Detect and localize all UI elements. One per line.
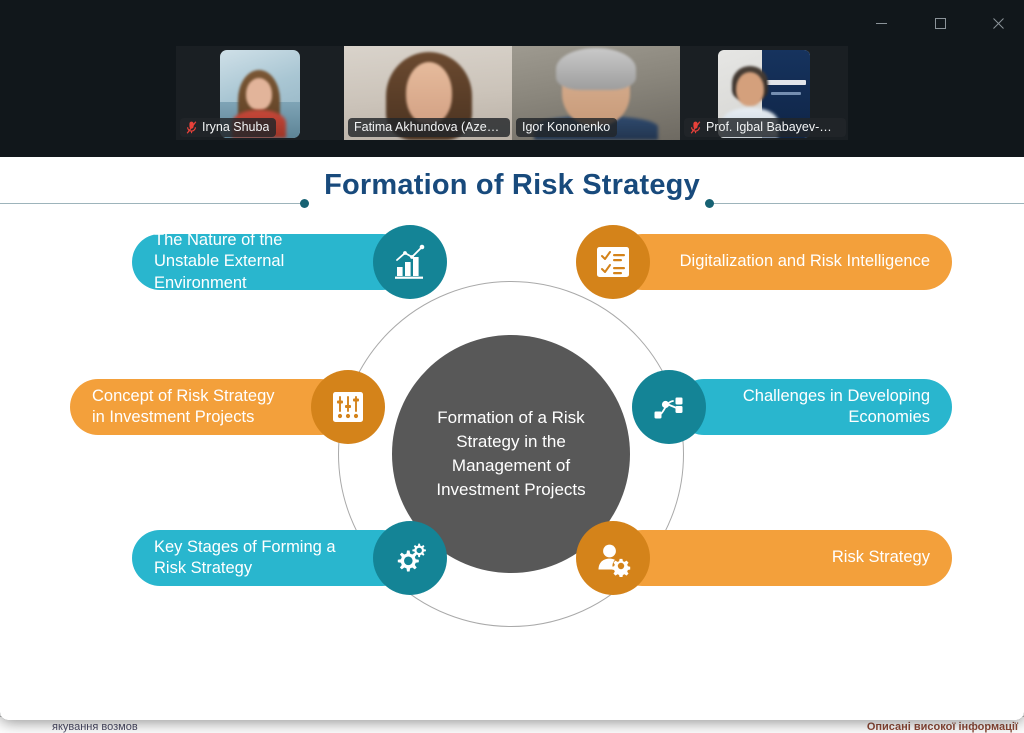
slide-title: Formation of Risk Strategy	[0, 169, 1024, 202]
participant-name-label: Igor Kononenko	[522, 120, 610, 134]
microphone-muted-icon	[186, 121, 197, 134]
diagram-node-1-label: The Nature of the Unstable External Envi…	[132, 230, 410, 293]
network-nodes-icon	[632, 370, 706, 444]
maximize-icon	[935, 18, 946, 29]
participant-name-chip-4: Prof. Igbal Babayev-Az…	[684, 118, 846, 137]
participant-filmstrip: Iryna Shuba Fatima Akhundova (Azerb… Igo…	[0, 46, 1024, 157]
participant-name-chip-3: Igor Kononenko	[516, 118, 617, 137]
bar-chart-growth-icon	[373, 225, 447, 299]
diagram-node-3-label: Concept of Risk Strategy in Investment P…	[70, 386, 348, 428]
diagram-node-5-label: Key Stages of Forming a Risk Strategy	[132, 537, 410, 579]
risk-strategy-diagram: Formation of a Risk Strategy in the Mana…	[0, 213, 1024, 720]
diagram-node-3[interactable]: Concept of Risk Strategy in Investment P…	[70, 379, 348, 435]
title-rule-left	[0, 203, 302, 204]
gears-icon	[373, 521, 447, 595]
minimize-icon	[876, 18, 887, 29]
participant-tile-4[interactable]: Prof. Igbal Babayev-Az…	[680, 46, 848, 140]
backdrop-text-right: Описані високої інформації	[867, 721, 1018, 733]
microphone-muted-icon	[690, 121, 701, 134]
diagram-node-2-label: Digitalization and Risk Intelligence	[620, 251, 952, 272]
diagram-node-1[interactable]: The Nature of the Unstable External Envi…	[132, 234, 410, 290]
minimize-button[interactable]	[858, 0, 904, 46]
participant-name-label: Iryna Shuba	[202, 120, 269, 134]
window-title-bar	[0, 0, 1024, 46]
meeting-window: Iryna Shuba Fatima Akhundova (Azerb… Igo…	[0, 0, 1024, 720]
participant-name-chip-1: Iryna Shuba	[180, 118, 276, 137]
close-icon	[993, 18, 1004, 29]
participant-name-label: Fatima Akhundova (Azerb…	[354, 120, 503, 134]
checklist-icon	[576, 225, 650, 299]
participant-tile-3[interactable]: Igor Kononenko	[512, 46, 680, 140]
sliders-icon	[311, 370, 385, 444]
diagram-node-6[interactable]: Risk Strategy	[614, 530, 952, 586]
maximize-button[interactable]	[917, 0, 963, 46]
participant-name-chip-2: Fatima Akhundova (Azerb…	[348, 118, 510, 137]
participant-tile-2[interactable]: Fatima Akhundova (Azerb…	[344, 46, 512, 140]
diagram-core-label: Formation of a Risk Strategy in the Mana…	[418, 406, 604, 503]
diagram-node-4[interactable]: Challenges in Developing Economies	[676, 379, 952, 435]
diagram-node-5[interactable]: Key Stages of Forming a Risk Strategy	[132, 530, 410, 586]
participant-name-label: Prof. Igbal Babayev-Az…	[706, 120, 839, 134]
diagram-node-4-label: Challenges in Developing Economies	[676, 386, 952, 428]
close-button[interactable]	[975, 0, 1021, 46]
backdrop-text-left: якування возмов	[52, 721, 138, 733]
user-gear-icon	[576, 521, 650, 595]
participant-tile-1[interactable]: Iryna Shuba	[176, 46, 344, 140]
diagram-node-2[interactable]: Digitalization and Risk Intelligence	[614, 234, 952, 290]
title-rule-right	[712, 203, 1024, 204]
shared-slide: Formation of Risk Strategy Formation of …	[0, 157, 1024, 720]
diagram-node-6-label: Risk Strategy	[772, 547, 952, 568]
